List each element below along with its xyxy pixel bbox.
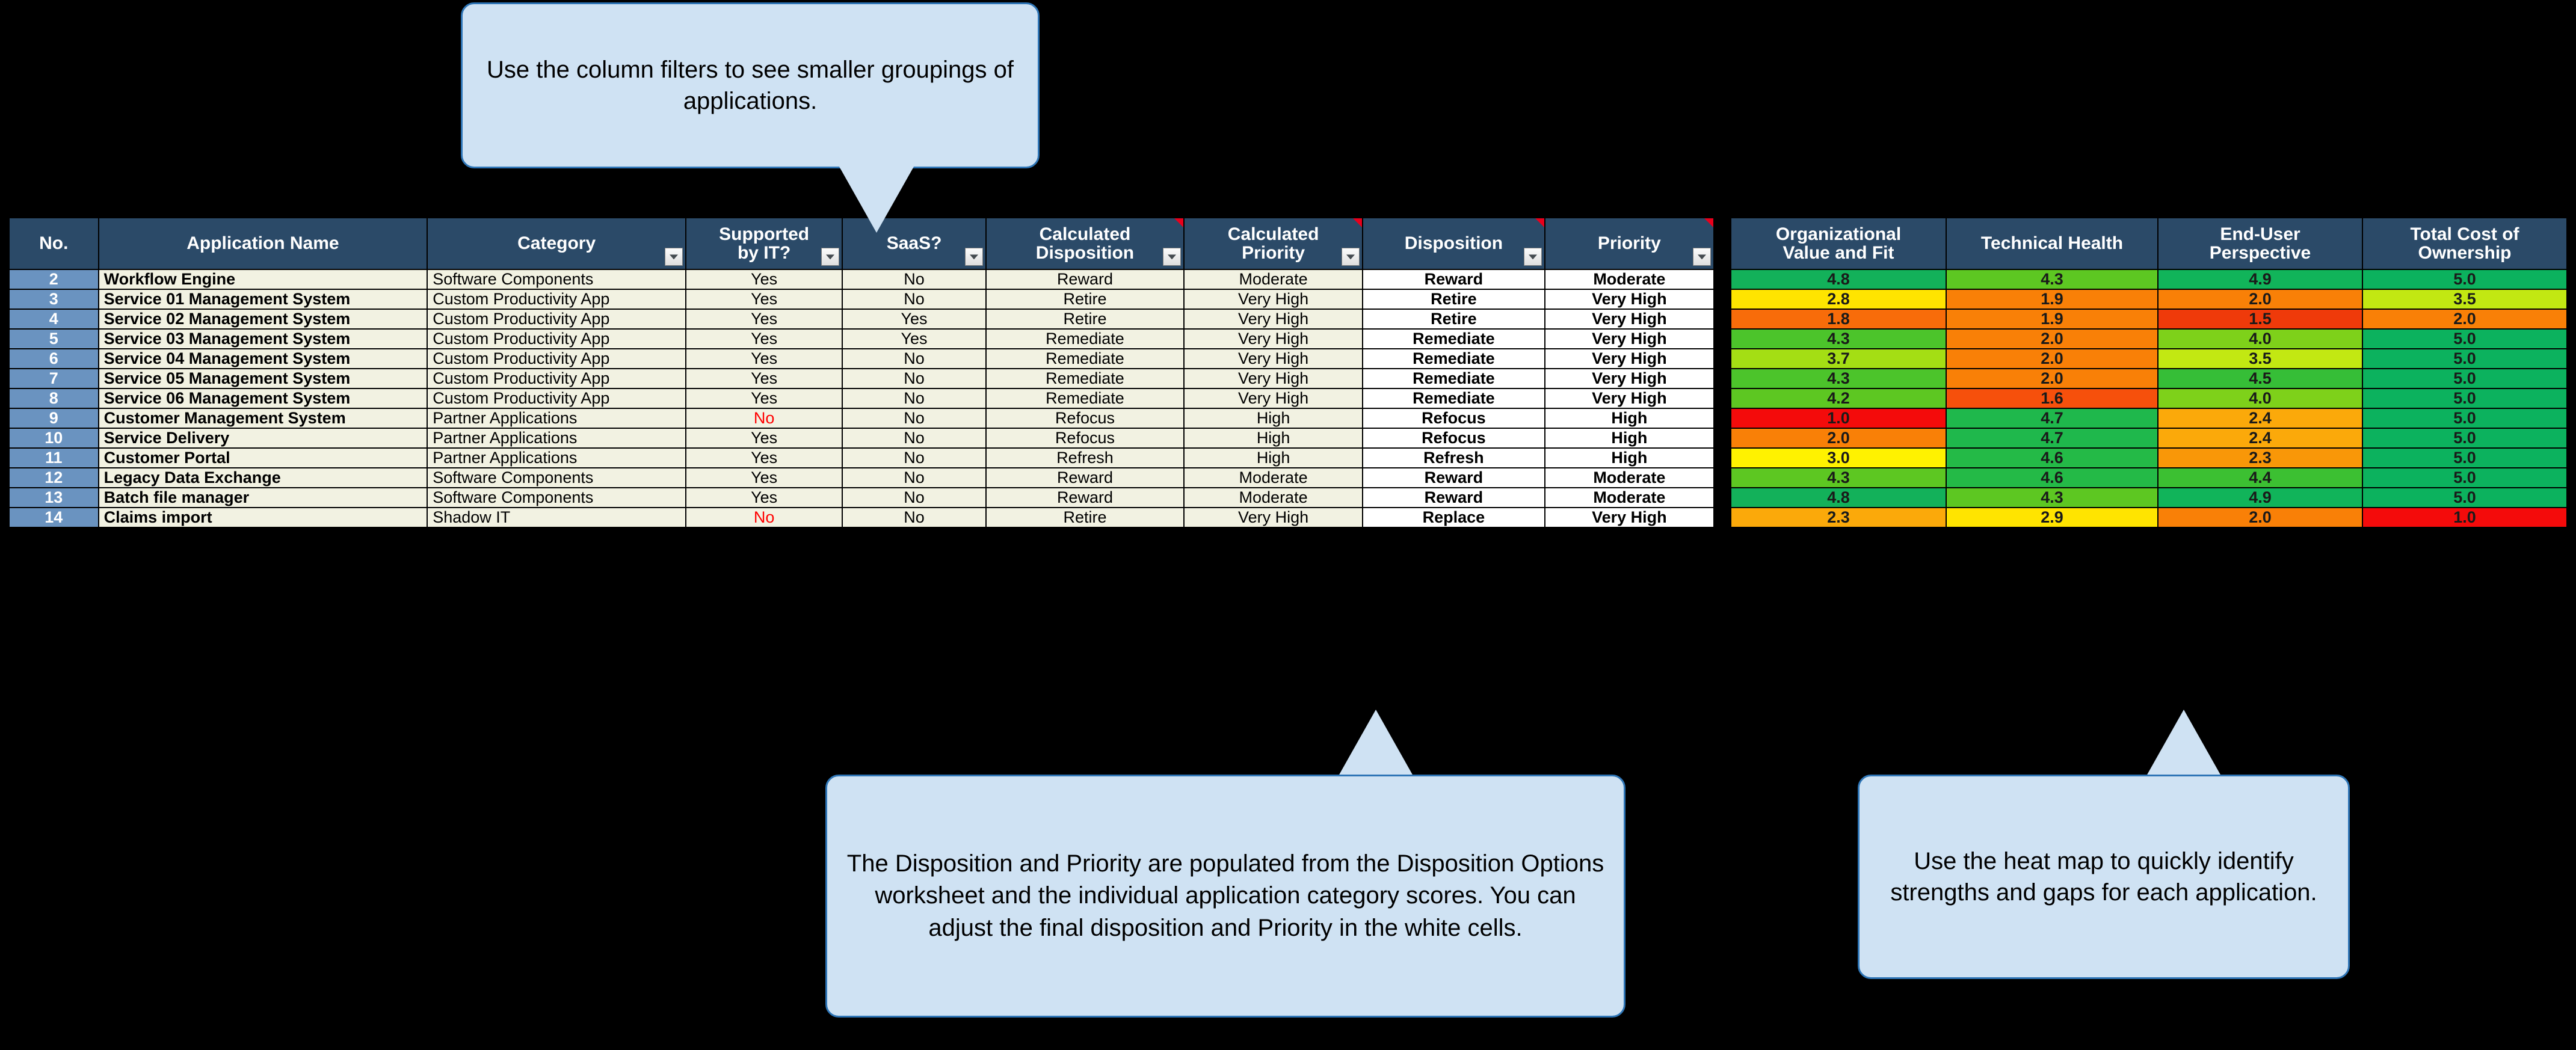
cell-category: Custom Productivity App	[427, 388, 686, 408]
filter-dropdown-icon-disposition[interactable]	[1524, 248, 1542, 266]
table-row[interactable]: 5Service 03 Management SystemCustom Prod…	[9, 329, 1714, 349]
cell-saas: No	[842, 408, 986, 428]
cell-disposition[interactable]: Replace	[1363, 508, 1545, 527]
cell-priority[interactable]: High	[1545, 408, 1714, 428]
column-header-label: Ownership	[2363, 244, 2566, 263]
heatmap-row[interactable]: 3.72.03.55.0	[1731, 349, 2567, 369]
row-number: 14	[9, 508, 99, 527]
heatmap-row[interactable]: 4.84.34.95.0	[1731, 269, 2567, 289]
cell-calculated-disposition: Reward	[986, 488, 1184, 508]
heatmap-row[interactable]: 4.21.64.05.0	[1731, 388, 2567, 408]
filter-dropdown-icon-category[interactable]	[665, 248, 683, 266]
cell-application-name: Legacy Data Exchange	[99, 468, 428, 488]
cell-priority[interactable]: Very High	[1545, 369, 1714, 388]
cell-end-user-perspective: 2.0	[2158, 289, 2362, 309]
row-number: 7	[9, 369, 99, 388]
cell-saas: No	[842, 508, 986, 527]
cell-calculated-priority: Moderate	[1184, 269, 1363, 289]
cell-organizational-value-and-fit: 3.7	[1731, 349, 1946, 369]
cell-organizational-value-and-fit: 4.3	[1731, 329, 1946, 349]
column-header-label: Total Cost of	[2363, 225, 2566, 244]
cell-application-name: Service 01 Management System	[99, 289, 428, 309]
row-number: 8	[9, 388, 99, 408]
cell-end-user-perspective: 1.5	[2158, 309, 2362, 329]
cell-saas: No	[842, 428, 986, 448]
cell-calculated-priority: Very High	[1184, 349, 1363, 369]
heatmap-header-row: OrganizationalValue and FitTechnical Hea…	[1731, 218, 2567, 269]
cell-calculated-priority: Moderate	[1184, 468, 1363, 488]
cell-supported-by-it: Yes	[686, 488, 842, 508]
table-row[interactable]: 4Service 02 Management SystemCustom Prod…	[9, 309, 1714, 329]
callout-disposition-text: The Disposition and Priority are populat…	[840, 848, 1610, 945]
cell-priority[interactable]: High	[1545, 428, 1714, 448]
row-number: 5	[9, 329, 99, 349]
cell-end-user-perspective: 3.5	[2158, 349, 2362, 369]
column-header-label: Priority	[1545, 234, 1713, 253]
callout-disposition: The Disposition and Priority are populat…	[825, 775, 1625, 1018]
cell-priority[interactable]: Moderate	[1545, 269, 1714, 289]
column-header-label: Disposition	[1363, 234, 1544, 253]
cell-disposition[interactable]: Retire	[1363, 289, 1545, 309]
cell-category: Custom Productivity App	[427, 329, 686, 349]
heatmap-row[interactable]: 4.32.04.05.0	[1731, 329, 2567, 349]
cell-category: Custom Productivity App	[427, 309, 686, 329]
cell-total-cost-of-ownership: 5.0	[2362, 448, 2567, 468]
cell-total-cost-of-ownership: 5.0	[2362, 408, 2567, 428]
column-header-label: Perspective	[2158, 244, 2362, 263]
cell-saas: Yes	[842, 309, 986, 329]
row-number: 4	[9, 309, 99, 329]
cell-application-name: Batch file manager	[99, 488, 428, 508]
cell-disposition[interactable]: Retire	[1363, 309, 1545, 329]
column-header-label: Calculated	[987, 225, 1183, 244]
cell-calculated-disposition: Remediate	[986, 369, 1184, 388]
cell-priority[interactable]: Very High	[1545, 349, 1714, 369]
column-header-priority: Priority	[1545, 218, 1714, 269]
filter-dropdown-icon-supported-by-it[interactable]	[821, 248, 839, 266]
cell-disposition[interactable]: Reward	[1363, 269, 1545, 289]
cell-calculated-disposition: Retire	[986, 508, 1184, 527]
cell-category: Software Components	[427, 468, 686, 488]
cell-saas: No	[842, 388, 986, 408]
cell-organizational-value-and-fit: 4.2	[1731, 388, 1946, 408]
cell-calculated-disposition: Remediate	[986, 349, 1184, 369]
heatmap-row[interactable]: 1.81.91.52.0	[1731, 309, 2567, 329]
cell-calculated-priority: High	[1184, 408, 1363, 428]
cell-disposition[interactable]: Reward	[1363, 468, 1545, 488]
table-row[interactable]: 11Customer PortalPartner ApplicationsYes…	[9, 448, 1714, 468]
table-row[interactable]: 8Service 06 Management SystemCustom Prod…	[9, 388, 1714, 408]
cell-supported-by-it: Yes	[686, 468, 842, 488]
row-number: 12	[9, 468, 99, 488]
cell-total-cost-of-ownership: 5.0	[2362, 349, 2567, 369]
cell-category: Software Components	[427, 488, 686, 508]
cell-disposition[interactable]: Remediate	[1363, 349, 1545, 369]
cell-technical-health: 4.3	[1946, 269, 2158, 289]
heatmap-row[interactable]: 2.04.72.45.0	[1731, 428, 2567, 448]
cell-supported-by-it: No	[686, 508, 842, 527]
callout-column-filters: Use the column filters to see smaller gr…	[461, 2, 1040, 168]
column-header-supported-by-it: Supportedby IT?	[686, 218, 842, 269]
cell-priority[interactable]: Very High	[1545, 388, 1714, 408]
table-row[interactable]: 14Claims importShadow ITNoNoRetireVery H…	[9, 508, 1714, 527]
cell-technical-health: 4.3	[1946, 488, 2158, 508]
column-header-disposition: Disposition	[1363, 218, 1545, 269]
cell-supported-by-it: Yes	[686, 369, 842, 388]
column-header-label: Organizational	[1731, 225, 1946, 244]
column-header-no: No.	[9, 218, 99, 269]
cell-organizational-value-and-fit: 3.0	[1731, 448, 1946, 468]
cell-disposition[interactable]: Refocus	[1363, 408, 1545, 428]
cell-organizational-value-and-fit: 1.8	[1731, 309, 1946, 329]
cell-application-name: Service 06 Management System	[99, 388, 428, 408]
cell-category: Custom Productivity App	[427, 349, 686, 369]
cell-calculated-disposition: Reward	[986, 269, 1184, 289]
cell-calculated-priority: Very High	[1184, 508, 1363, 527]
cell-end-user-perspective: 2.4	[2158, 428, 2362, 448]
callout-heatmap: Use the heat map to quickly identify str…	[1858, 775, 2350, 979]
column-header-label: Supported	[686, 225, 842, 244]
column-header-organizational-value-and-fit: OrganizationalValue and Fit	[1731, 218, 1946, 269]
cell-priority[interactable]: Very High	[1545, 329, 1714, 349]
cell-end-user-perspective: 4.5	[2158, 369, 2362, 388]
table-row[interactable]: 3Service 01 Management SystemCustom Prod…	[9, 289, 1714, 309]
application-portfolio-table[interactable]: No.Application NameCategorySupportedby I…	[8, 217, 1715, 528]
cell-application-name: Service 02 Management System	[99, 309, 428, 329]
cell-organizational-value-and-fit: 4.8	[1731, 269, 1946, 289]
cell-organizational-value-and-fit: 2.3	[1731, 508, 1946, 527]
cell-supported-by-it: Yes	[686, 388, 842, 408]
cell-supported-by-it: Yes	[686, 329, 842, 349]
cell-calculated-priority: Very High	[1184, 289, 1363, 309]
cell-supported-by-it: Yes	[686, 349, 842, 369]
row-number: 6	[9, 349, 99, 369]
screenshot-root: No.Application NameCategorySupportedby I…	[0, 0, 2576, 1050]
callout-column-filters-text: Use the column filters to see smaller gr…	[476, 54, 1025, 117]
callout-heatmap-tail	[2146, 710, 2221, 776]
cell-application-name: Customer Portal	[99, 448, 428, 468]
callout-disposition-tail	[1339, 710, 1413, 776]
cell-calculated-priority: High	[1184, 448, 1363, 468]
cell-saas: Yes	[842, 329, 986, 349]
cell-application-name: Customer Management System	[99, 408, 428, 428]
column-header-label: Category	[428, 234, 685, 253]
cell-technical-health: 4.6	[1946, 468, 2158, 488]
column-header-label: Value and Fit	[1731, 244, 1946, 263]
table-row[interactable]: 2Workflow EngineSoftware ComponentsYesNo…	[9, 269, 1714, 289]
cell-category: Partner Applications	[427, 448, 686, 468]
cell-organizational-value-and-fit: 4.8	[1731, 488, 1946, 508]
cell-end-user-perspective: 2.4	[2158, 408, 2362, 428]
cell-technical-health: 4.7	[1946, 408, 2158, 428]
cell-technical-health: 1.6	[1946, 388, 2158, 408]
column-header-end-user-perspective: End-UserPerspective	[2158, 218, 2362, 269]
filter-dropdown-icon-calculated-priority[interactable]	[1342, 248, 1360, 266]
row-number: 3	[9, 289, 99, 309]
cell-calculated-disposition: Refocus	[986, 408, 1184, 428]
cell-end-user-perspective: 2.0	[2158, 508, 2362, 527]
table-row[interactable]: 9Customer Management SystemPartner Appli…	[9, 408, 1714, 428]
heatmap-row[interactable]: 3.04.62.35.0	[1731, 448, 2567, 468]
column-header-label: Disposition	[987, 244, 1183, 263]
callout-column-filters-tail	[839, 167, 914, 233]
cell-technical-health: 2.0	[1946, 329, 2158, 349]
heatmap-row[interactable]: 4.32.04.55.0	[1731, 369, 2567, 388]
cell-end-user-perspective: 2.3	[2158, 448, 2362, 468]
cell-calculated-priority: Moderate	[1184, 488, 1363, 508]
row-number: 2	[9, 269, 99, 289]
cell-application-name: Service Delivery	[99, 428, 428, 448]
column-header-label: Priority	[1185, 244, 1362, 263]
cell-category: Custom Productivity App	[427, 289, 686, 309]
cell-supported-by-it: Yes	[686, 448, 842, 468]
cell-disposition[interactable]: Remediate	[1363, 369, 1545, 388]
cell-calculated-priority: High	[1184, 428, 1363, 448]
cell-application-name: Service 03 Management System	[99, 329, 428, 349]
column-header-technical-health: Technical Health	[1946, 218, 2158, 269]
cell-category: Partner Applications	[427, 408, 686, 428]
filter-dropdown-icon-calculated-disposition[interactable]	[1163, 248, 1181, 266]
cell-total-cost-of-ownership: 2.0	[2362, 309, 2567, 329]
table-row[interactable]: 13Batch file managerSoftware ComponentsY…	[9, 488, 1714, 508]
cell-organizational-value-and-fit: 1.0	[1731, 408, 1946, 428]
heatmap-row[interactable]: 2.81.92.03.5	[1731, 289, 2567, 309]
cell-calculated-priority: Very High	[1184, 329, 1363, 349]
cell-organizational-value-and-fit: 4.3	[1731, 369, 1946, 388]
column-header-label: Application Name	[99, 234, 427, 253]
table-row[interactable]: 6Service 04 Management SystemCustom Prod…	[9, 349, 1714, 369]
column-header-label: Calculated	[1185, 225, 1362, 244]
cell-total-cost-of-ownership: 1.0	[2362, 508, 2567, 527]
cell-saas: No	[842, 289, 986, 309]
cell-technical-health: 2.0	[1946, 349, 2158, 369]
cell-disposition[interactable]: Refocus	[1363, 428, 1545, 448]
cell-supported-by-it: Yes	[686, 428, 842, 448]
cell-end-user-perspective: 4.9	[2158, 488, 2362, 508]
cell-calculated-priority: Very High	[1184, 388, 1363, 408]
heatmap-row[interactable]: 2.32.92.01.0	[1731, 508, 2567, 527]
cell-saas: No	[842, 468, 986, 488]
cell-technical-health: 4.6	[1946, 448, 2158, 468]
column-header-application-name: Application Name	[99, 218, 428, 269]
cell-priority[interactable]: High	[1545, 448, 1714, 468]
column-header-total-cost-of-ownership: Total Cost ofOwnership	[2362, 218, 2567, 269]
table-row[interactable]: 7Service 05 Management SystemCustom Prod…	[9, 369, 1714, 388]
row-number: 10	[9, 428, 99, 448]
column-header-label: by IT?	[686, 244, 842, 263]
row-number: 13	[9, 488, 99, 508]
cell-category: Shadow IT	[427, 508, 686, 527]
heatmap-row[interactable]: 4.34.64.45.0	[1731, 468, 2567, 488]
column-header-calculated-priority: CalculatedPriority	[1184, 218, 1363, 269]
cell-end-user-perspective: 4.4	[2158, 468, 2362, 488]
cell-calculated-disposition: Refresh	[986, 448, 1184, 468]
cell-application-name: Service 04 Management System	[99, 349, 428, 369]
column-header-label: End-User	[2158, 225, 2362, 244]
cell-total-cost-of-ownership: 5.0	[2362, 468, 2567, 488]
heatmap-row[interactable]: 1.04.72.45.0	[1731, 408, 2567, 428]
cell-priority[interactable]: Very High	[1545, 289, 1714, 309]
cell-supported-by-it: No	[686, 408, 842, 428]
column-header-label: No.	[10, 234, 98, 253]
cell-technical-health: 1.9	[1946, 309, 2158, 329]
cell-technical-health: 2.0	[1946, 369, 2158, 388]
column-header-category: Category	[427, 218, 686, 269]
cell-supported-by-it: Yes	[686, 309, 842, 329]
heatmap-row[interactable]: 4.84.34.95.0	[1731, 488, 2567, 508]
cell-total-cost-of-ownership: 5.0	[2362, 369, 2567, 388]
cell-application-name: Service 05 Management System	[99, 369, 428, 388]
cell-saas: No	[842, 488, 986, 508]
cell-calculated-disposition: Remediate	[986, 329, 1184, 349]
cell-calculated-disposition: Refocus	[986, 428, 1184, 448]
cell-technical-health: 1.9	[1946, 289, 2158, 309]
cell-supported-by-it: Yes	[686, 269, 842, 289]
cell-disposition[interactable]: Reward	[1363, 488, 1545, 508]
cell-disposition[interactable]: Refresh	[1363, 448, 1545, 468]
cell-organizational-value-and-fit: 2.0	[1731, 428, 1946, 448]
cell-supported-by-it: Yes	[686, 289, 842, 309]
cell-total-cost-of-ownership: 5.0	[2362, 488, 2567, 508]
cell-total-cost-of-ownership: 5.0	[2362, 329, 2567, 349]
row-number: 9	[9, 408, 99, 428]
table-row[interactable]: 10Service DeliveryPartner ApplicationsYe…	[9, 428, 1714, 448]
column-header-label: SaaS?	[843, 234, 985, 253]
cell-end-user-perspective: 4.9	[2158, 269, 2362, 289]
cell-calculated-disposition: Retire	[986, 289, 1184, 309]
cell-application-name: Workflow Engine	[99, 269, 428, 289]
cell-priority[interactable]: Very High	[1545, 508, 1714, 527]
cell-saas: No	[842, 349, 986, 369]
cell-total-cost-of-ownership: 5.0	[2362, 388, 2567, 408]
cell-calculated-disposition: Reward	[986, 468, 1184, 488]
row-number: 11	[9, 448, 99, 468]
table-row[interactable]: 12Legacy Data ExchangeSoftware Component…	[9, 468, 1714, 488]
cell-calculated-disposition: Remediate	[986, 388, 1184, 408]
cell-calculated-priority: Very High	[1184, 369, 1363, 388]
cell-calculated-disposition: Retire	[986, 309, 1184, 329]
cell-saas: No	[842, 369, 986, 388]
column-header-calculated-disposition: CalculatedDisposition	[986, 218, 1184, 269]
cell-calculated-priority: Very High	[1184, 309, 1363, 329]
cell-end-user-perspective: 4.0	[2158, 329, 2362, 349]
cell-organizational-value-and-fit: 2.8	[1731, 289, 1946, 309]
cell-priority[interactable]: Very High	[1545, 309, 1714, 329]
cell-total-cost-of-ownership: 5.0	[2362, 428, 2567, 448]
column-header-label: Technical Health	[1947, 234, 2157, 253]
callout-heatmap-text: Use the heat map to quickly identify str…	[1873, 846, 2335, 908]
cell-category: Software Components	[427, 269, 686, 289]
cell-technical-health: 2.9	[1946, 508, 2158, 527]
heat-map-table[interactable]: OrganizationalValue and FitTechnical Hea…	[1730, 217, 2568, 528]
filter-dropdown-icon-saas[interactable]	[965, 248, 983, 266]
cell-saas: No	[842, 269, 986, 289]
cell-category: Partner Applications	[427, 428, 686, 448]
cell-disposition[interactable]: Remediate	[1363, 388, 1545, 408]
cell-technical-health: 4.7	[1946, 428, 2158, 448]
filter-dropdown-icon-priority[interactable]	[1693, 248, 1711, 266]
cell-total-cost-of-ownership: 5.0	[2362, 269, 2567, 289]
cell-priority[interactable]: Moderate	[1545, 488, 1714, 508]
cell-disposition[interactable]: Remediate	[1363, 329, 1545, 349]
cell-organizational-value-and-fit: 4.3	[1731, 468, 1946, 488]
cell-category: Custom Productivity App	[427, 369, 686, 388]
cell-application-name: Claims import	[99, 508, 428, 527]
cell-total-cost-of-ownership: 3.5	[2362, 289, 2567, 309]
cell-end-user-perspective: 4.0	[2158, 388, 2362, 408]
cell-saas: No	[842, 448, 986, 468]
cell-priority[interactable]: Moderate	[1545, 468, 1714, 488]
